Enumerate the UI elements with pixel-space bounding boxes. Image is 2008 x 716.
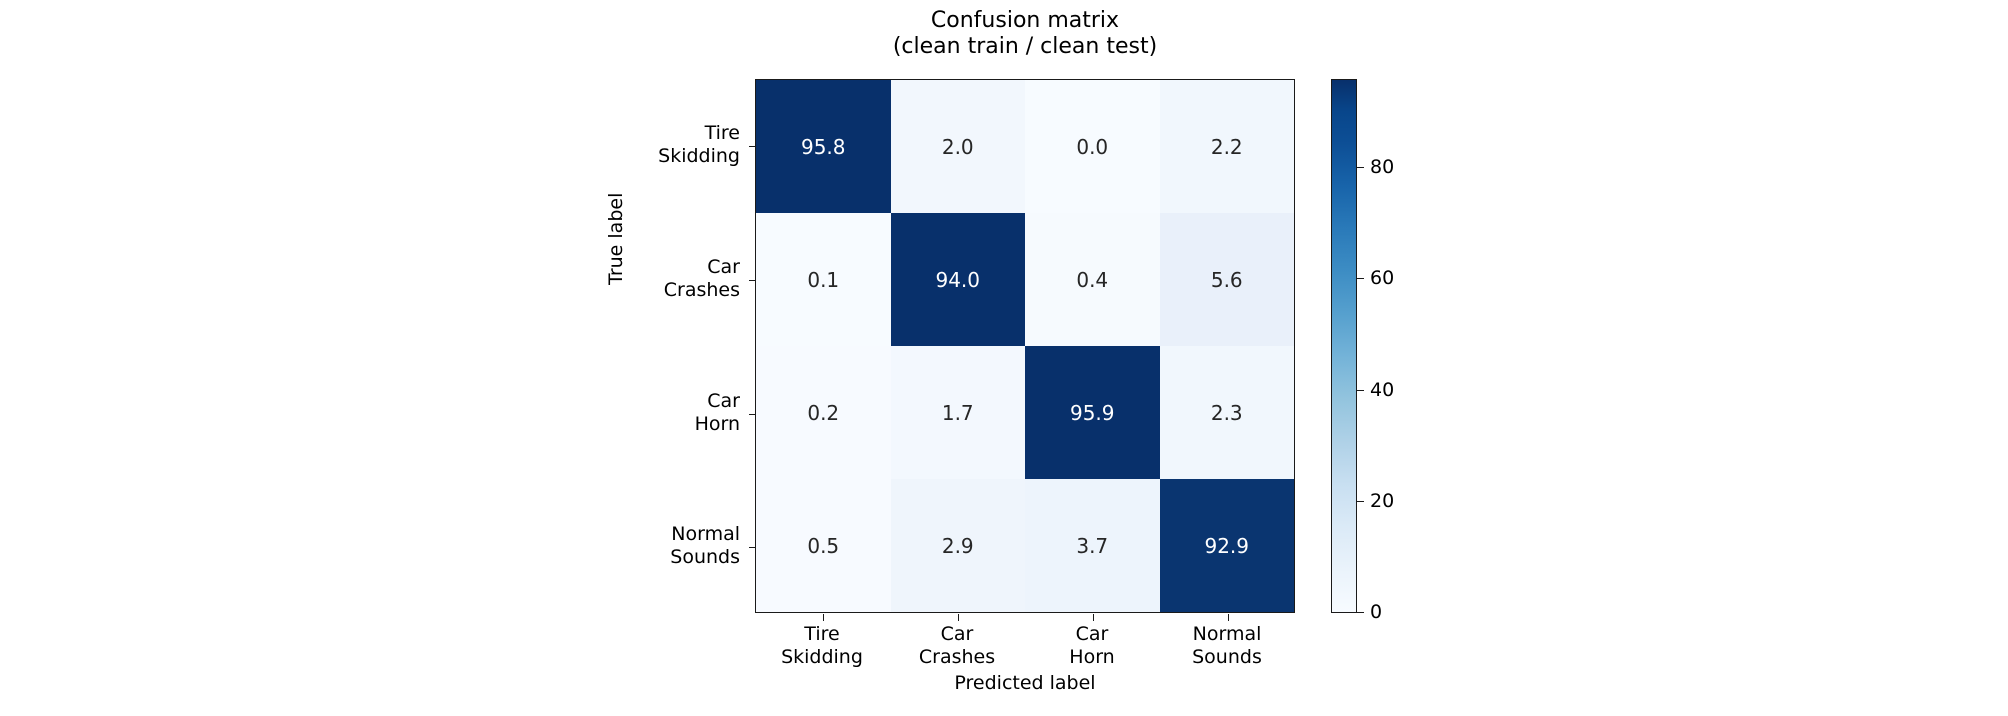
cell-value: 2.3 [1211,403,1243,423]
heatmap-cell-r0c0: 95.8 [756,80,891,213]
y-tick-mark-2 [749,414,756,415]
heatmap-cell-r0c2: 0.0 [1025,80,1160,213]
heatmap-cell-r1c0: 0.1 [756,213,891,346]
cell-value: 2.9 [942,536,974,556]
y-tick-label-tire-skidding: Tire Skidding [560,122,740,168]
cell-value: 2.0 [942,137,974,157]
x-axis-label: Predicted label [755,672,1295,694]
cell-value: 95.9 [1070,403,1115,423]
chart-title-block: Confusion matrix (clean train / clean te… [755,8,1295,61]
heatmap-cell-r2c0: 0.2 [756,346,891,479]
heatmap-cell-r1c1: 94.0 [891,213,1026,346]
colorbar-tick-label-80: 80 [1370,158,1394,177]
cell-value: 95.8 [801,137,846,157]
cell-value: 2.2 [1211,137,1243,157]
colorbar-tick-mark-3 [1357,278,1364,279]
colorbar-tick-mark-4 [1357,167,1364,168]
heatmap-cell-r2c3: 2.3 [1160,346,1295,479]
colorbar-tick-mark-2 [1357,390,1364,391]
heatmap-axes: 95.8 2.0 0.0 2.2 0.1 94.0 0.4 5.6 [755,79,1295,613]
heatmap-cell-r1c2: 0.4 [1025,213,1160,346]
y-axis-label: True label [605,193,627,285]
cell-value: 94.0 [935,270,980,290]
heatmap-cell-r2c1: 1.7 [891,346,1026,479]
y-tick-label-car-horn: Car Horn [560,390,740,436]
cell-value: 0.5 [807,536,839,556]
page-title: Confusion matrix [755,8,1295,34]
heatmap-cell-r0c3: 2.2 [1160,80,1295,213]
confusion-matrix-figure: Confusion matrix (clean train / clean te… [0,0,2008,716]
chart-subtitle: (clean train / clean test) [755,34,1295,60]
cell-value: 0.4 [1076,270,1108,290]
heatmap-grid: 95.8 2.0 0.0 2.2 0.1 94.0 0.4 5.6 [756,80,1294,612]
colorbar-tick-mark-1 [1357,501,1364,502]
heatmap-cell-r3c3: 92.9 [1160,479,1295,612]
colorbar-tick-label-0: 0 [1370,603,1382,622]
heatmap-cell-r1c3: 5.6 [1160,213,1295,346]
y-tick-label-car-crashes: Car Crashes [560,256,740,302]
x-tick-mark-3 [1228,614,1229,621]
cell-value: 0.2 [807,403,839,423]
x-tick-label-tire-skidding: Tire Skidding [747,623,897,669]
x-tick-label-normal-sounds: Normal Sounds [1152,623,1302,669]
colorbar-tick-label-40: 40 [1370,381,1394,400]
colorbar: 0 20 40 60 80 [1331,79,1357,613]
heatmap-cell-r2c2: 95.9 [1025,346,1160,479]
y-tick-mark-1 [749,280,756,281]
heatmap-cell-r3c2: 3.7 [1025,479,1160,612]
heatmap-cell-r0c1: 2.0 [891,80,1026,213]
cell-value: 0.1 [807,270,839,290]
colorbar-gradient [1331,79,1357,613]
x-tick-label-car-horn: Car Horn [1017,623,1167,669]
cell-value: 1.7 [942,403,974,423]
colorbar-tick-mark-0 [1357,612,1364,613]
y-tick-label-normal-sounds: Normal Sounds [560,523,740,569]
x-tick-mark-1 [958,614,959,621]
y-tick-mark-0 [749,146,756,147]
x-tick-mark-0 [823,614,824,621]
x-tick-mark-2 [1093,614,1094,621]
colorbar-tick-label-60: 60 [1370,269,1394,288]
colorbar-tick-label-20: 20 [1370,492,1394,511]
cell-value: 0.0 [1076,137,1108,157]
heatmap-cell-r3c0: 0.5 [756,479,891,612]
x-tick-label-car-crashes: Car Crashes [882,623,1032,669]
cell-value: 92.9 [1204,536,1249,556]
y-tick-mark-3 [749,547,756,548]
heatmap-cell-r3c1: 2.9 [891,479,1026,612]
cell-value: 3.7 [1076,536,1108,556]
cell-value: 5.6 [1211,270,1243,290]
